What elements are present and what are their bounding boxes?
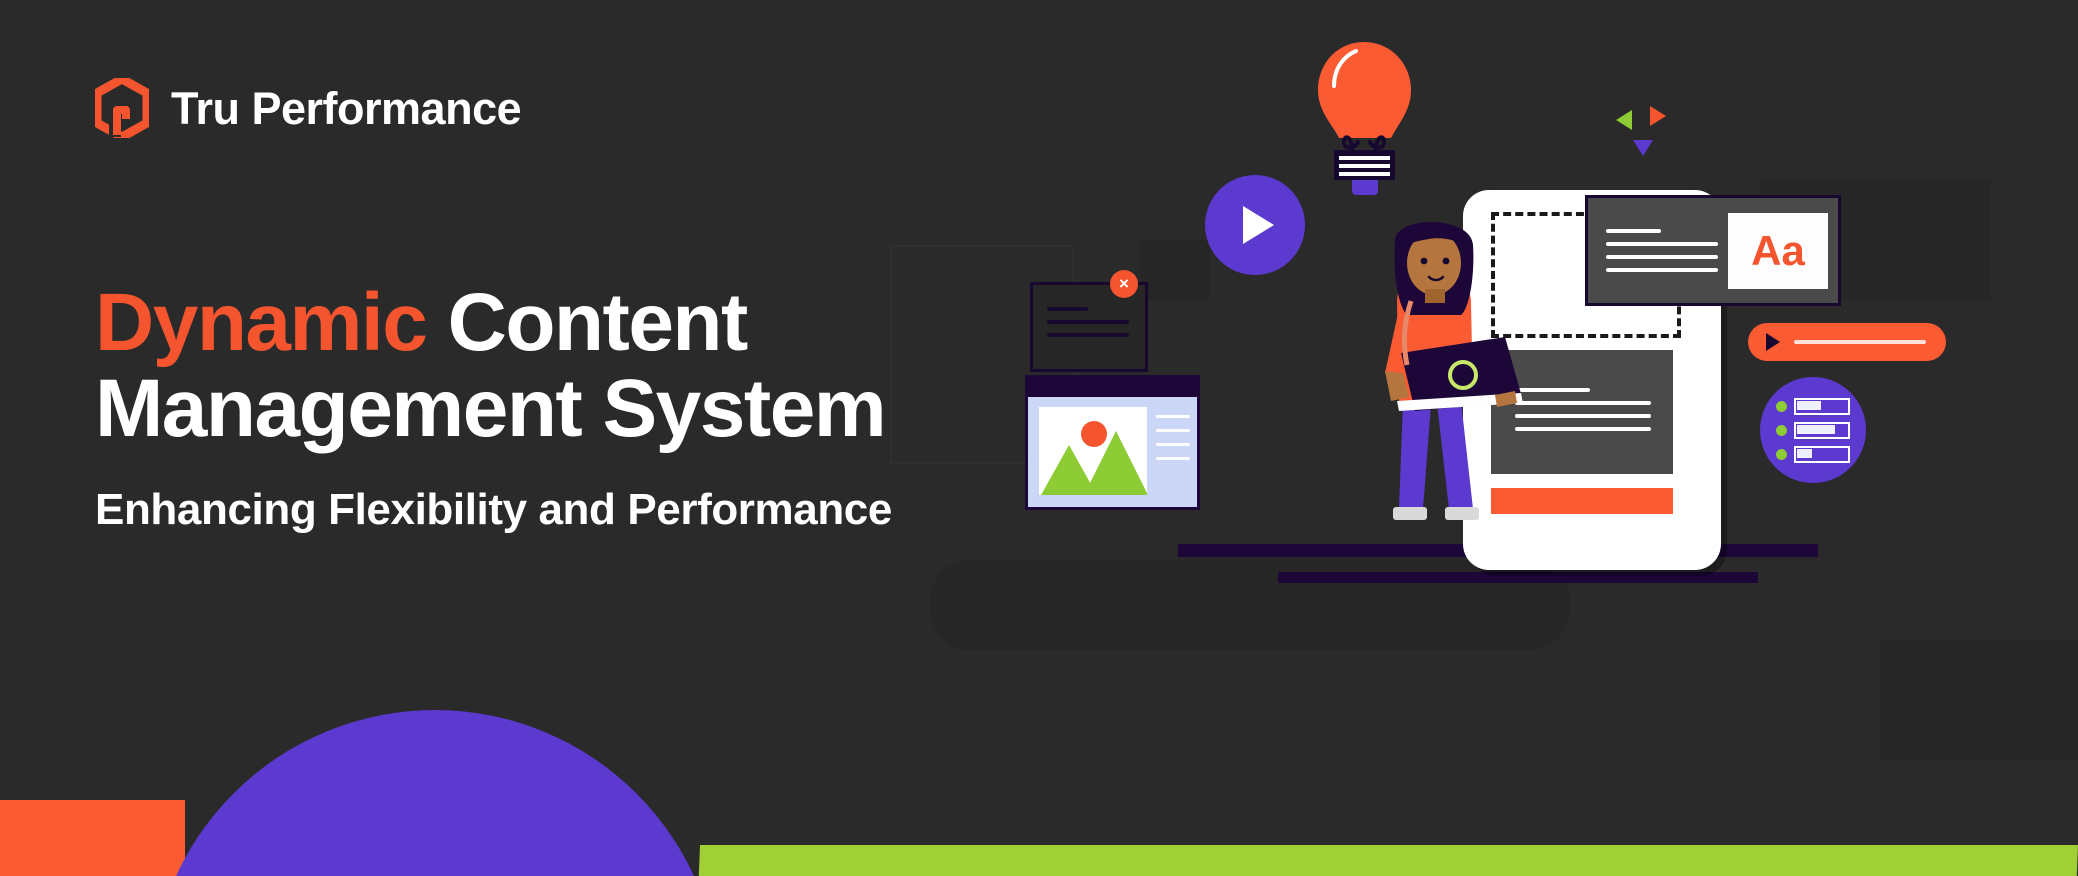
ground-bar-back: [1278, 572, 1758, 583]
list-item: [1776, 398, 1850, 415]
decor-green-band: [699, 845, 2078, 876]
image-placeholder-icon: [1025, 375, 1200, 510]
type-card-line: [1606, 255, 1718, 259]
content-line: [1515, 388, 1590, 392]
progress-bar: [1794, 446, 1850, 463]
image-card-line: [1156, 443, 1190, 446]
headline-accent-word: Dynamic: [95, 277, 426, 368]
image-card-line: [1156, 457, 1190, 460]
headline-rest: Content: [426, 277, 746, 368]
type-card-line: [1606, 268, 1718, 272]
task-list-circle-icon: [1760, 377, 1866, 483]
note-line: [1047, 333, 1129, 337]
type-card-line: [1606, 242, 1718, 246]
brand-logo[interactable]: Tru Performance: [95, 78, 521, 138]
triangle-icon: [1616, 110, 1632, 130]
media-progress-pill-icon[interactable]: [1748, 323, 1946, 361]
progress-bar: [1794, 398, 1850, 415]
decor-orange-block: [0, 800, 185, 876]
type-sample-tile: Aa: [1728, 213, 1828, 289]
brand-name: Tru Performance: [171, 86, 521, 131]
status-dot-icon: [1776, 449, 1787, 460]
note-line: [1047, 320, 1129, 324]
typography-card-icon: Aa: [1585, 195, 1841, 306]
play-triangle-icon: [1766, 333, 1780, 351]
cms-illustration: ×: [1150, 20, 1970, 820]
play-circle-icon[interactable]: [1205, 175, 1305, 275]
close-icon[interactable]: ×: [1110, 270, 1138, 298]
page-subtitle: Enhancing Flexibility and Performance: [95, 486, 1055, 534]
image-card-line: [1156, 429, 1190, 432]
type-card-line: [1606, 229, 1661, 233]
content-line: [1515, 401, 1651, 405]
list-item: [1776, 446, 1850, 463]
note-line: [1047, 307, 1088, 311]
triangle-icon: [1650, 106, 1666, 126]
status-dot-icon: [1776, 425, 1787, 436]
hero-copy: Dynamic Content Management System Enhanc…: [95, 280, 1055, 535]
hexagon-p-logo-icon: [95, 78, 149, 138]
content-line: [1515, 414, 1651, 418]
hero-banner: Tru Performance Dynamic Content Manageme…: [0, 0, 2078, 876]
content-line: [1515, 427, 1651, 431]
status-dot-icon: [1776, 401, 1787, 412]
headline-line-2: Management System: [95, 363, 885, 454]
decor-purple-dome: [150, 710, 720, 876]
progress-bar: [1794, 422, 1850, 439]
image-card-line: [1156, 415, 1190, 418]
progress-track[interactable]: [1794, 340, 1926, 344]
lightbulb-icon: [1312, 38, 1417, 203]
play-triangle-icon: [1243, 206, 1274, 244]
list-item: [1776, 422, 1850, 439]
page-title: Dynamic Content Management System: [95, 280, 1055, 452]
person-with-laptop-icon: [1345, 205, 1525, 550]
mountain-icon: [1084, 431, 1147, 495]
triangle-icon: [1633, 140, 1653, 156]
